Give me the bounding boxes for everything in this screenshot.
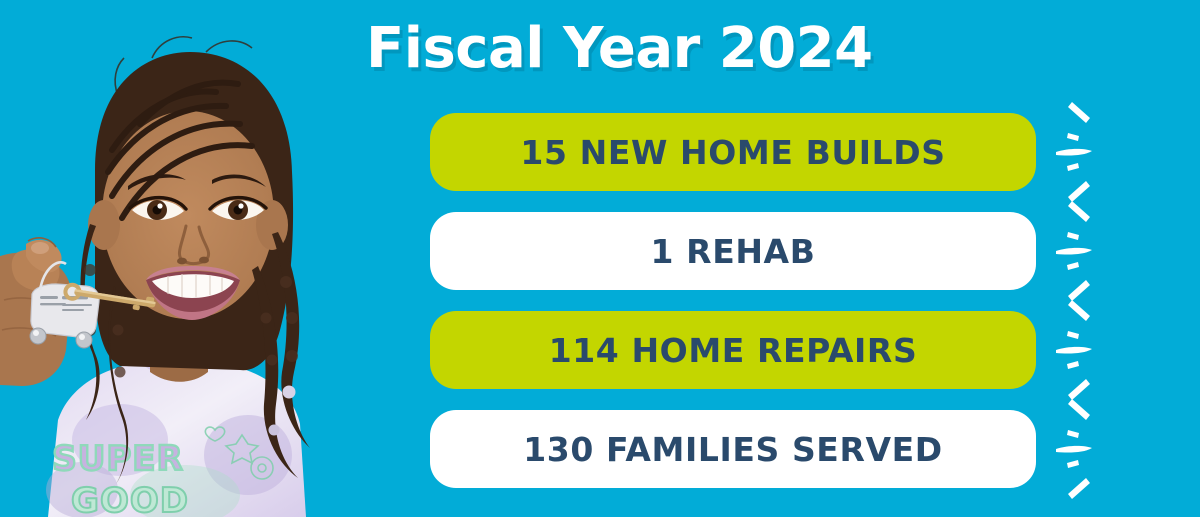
shirt-text-super: SUPER — [52, 439, 183, 479]
stat-label: 114 HOME REPAIRS — [549, 334, 918, 367]
stat-pill-new-home-builds: 15 NEW HOME BUILDS — [430, 113, 1036, 191]
shirt-text-good: GOOD — [71, 481, 189, 517]
stat-pill-home-repairs: 114 HOME REPAIRS — [430, 311, 1036, 389]
stat-label: 130 FAMILIES SERVED — [523, 433, 943, 466]
sparkle-rays-icon — [1034, 294, 1096, 406]
stat-label: 15 NEW HOME BUILDS — [520, 136, 945, 169]
stat-row: 130 FAMILIES SERVED — [430, 410, 1036, 488]
stat-pill-families-served: 130 FAMILIES SERVED — [430, 410, 1036, 488]
stat-row: 114 HOME REPAIRS — [430, 311, 1036, 389]
photo-illustration: SUPER GOOD — [0, 0, 345, 517]
sparkle-rays-icon — [1034, 96, 1096, 208]
stat-row: 1 REHAB — [430, 212, 1036, 290]
sparkle-rays-icon — [1034, 393, 1096, 505]
stat-pill-rehab: 1 REHAB — [430, 212, 1036, 290]
stat-row: 15 NEW HOME BUILDS — [430, 113, 1036, 191]
stat-label: 1 REHAB — [651, 235, 816, 268]
stats-list: 15 NEW HOME BUILDS 1 REHAB — [430, 113, 1036, 509]
sparkle-rays-icon — [1034, 195, 1096, 307]
fiscal-year-infographic: SUPER GOOD — [0, 0, 1200, 517]
page-title: Fiscal Year 2024 — [366, 16, 873, 81]
girl-with-key-photo: SUPER GOOD — [0, 0, 345, 517]
